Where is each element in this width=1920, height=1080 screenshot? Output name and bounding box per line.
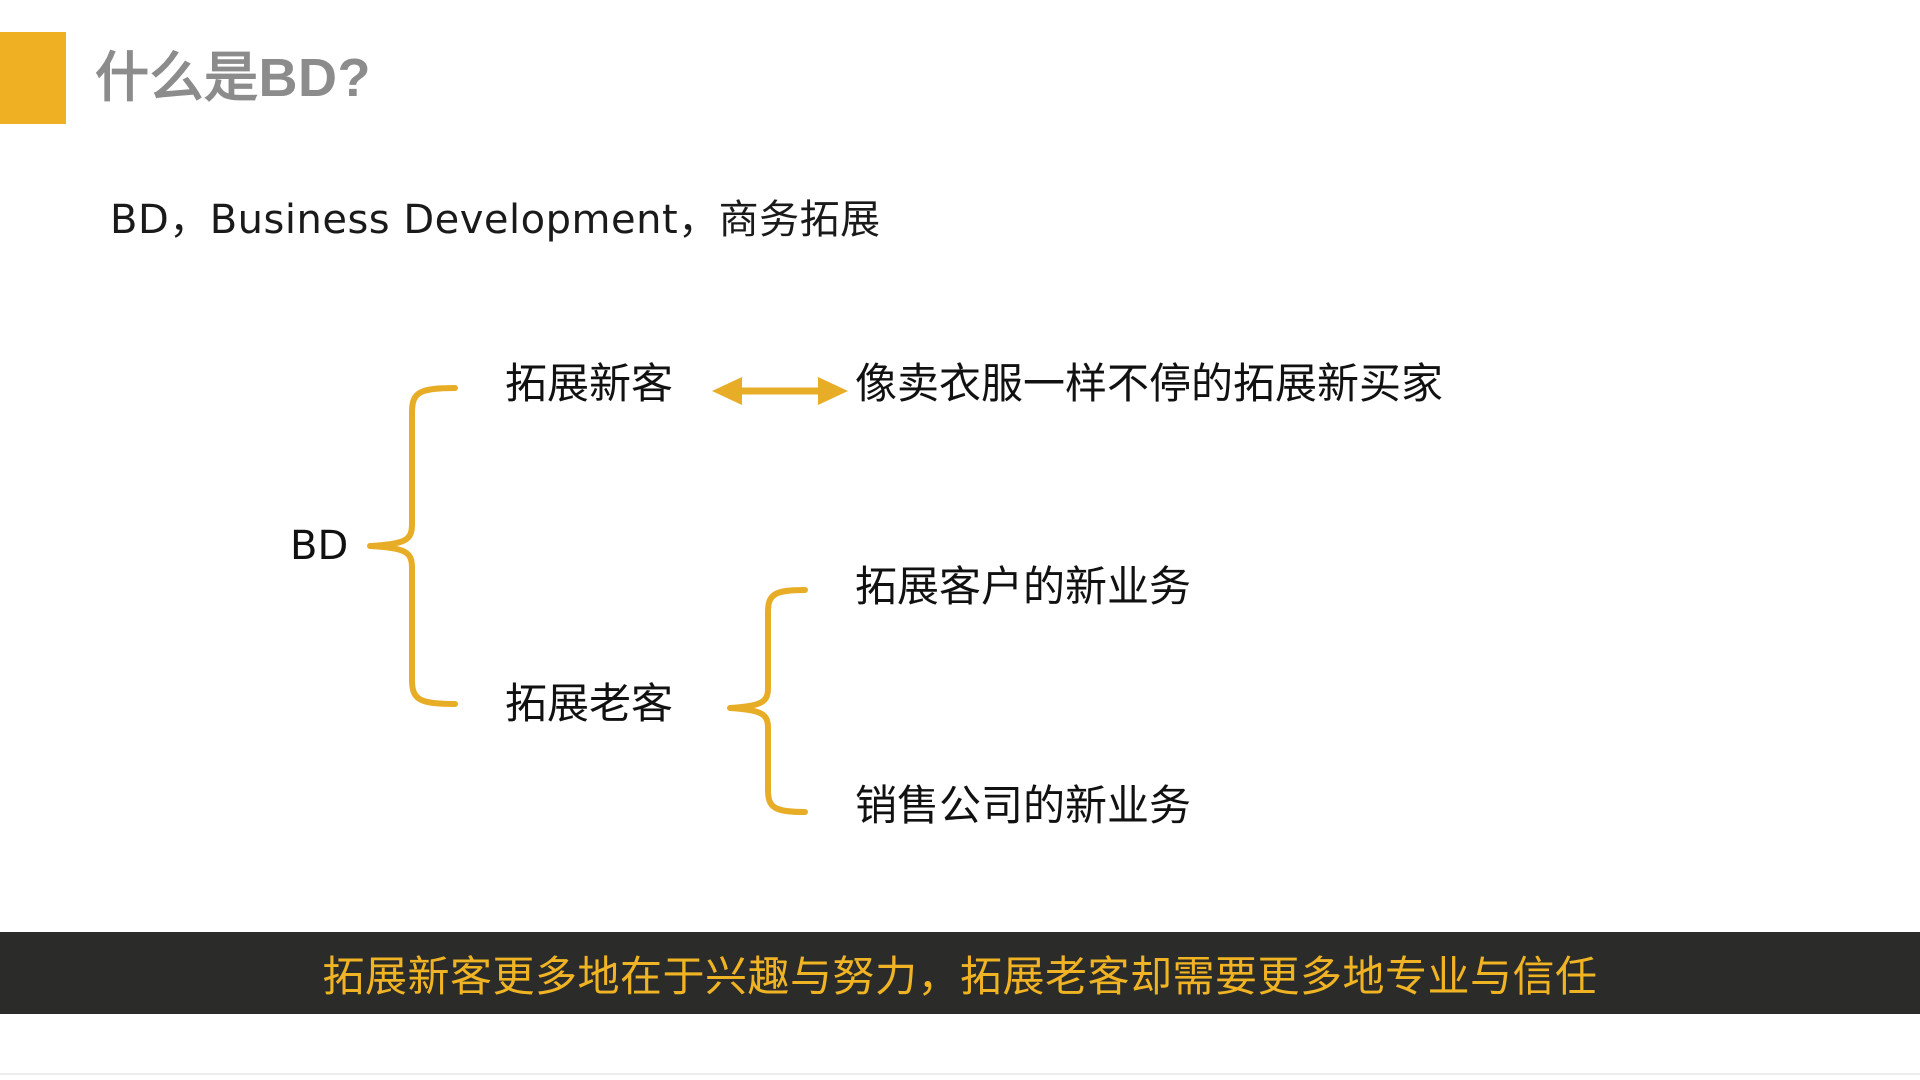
title-accent-block xyxy=(0,32,66,124)
subtitle-text: BD，Business Development，商务拓展 xyxy=(110,187,881,245)
bottom-banner: 拓展新客更多地在于兴趣与努力，拓展老客却需要更多地专业与信任 xyxy=(0,932,1920,1014)
diagram-connectors xyxy=(0,0,1920,1080)
diagram-node-old-client: 拓展老客 xyxy=(505,683,673,725)
diagram-node-old-client-detail-2: 销售公司的新业务 xyxy=(855,785,1191,827)
page-title: 什么是BD? xyxy=(95,51,371,105)
diagram-node-new-client-detail: 像卖衣服一样不停的拓展新买家 xyxy=(855,363,1443,405)
diagram-node-old-client-detail-1: 拓展客户的新业务 xyxy=(855,566,1191,608)
double-arrow-icon xyxy=(712,377,848,405)
slide-canvas: 什么是BD? BD，Business Development，商务拓展 BD 拓… xyxy=(0,0,1920,1080)
slide-title-row: 什么是BD? xyxy=(0,32,371,124)
bottom-divider xyxy=(0,1073,1920,1075)
brace-root xyxy=(370,388,455,704)
bottom-banner-text: 拓展新客更多地在于兴趣与努力，拓展老客却需要更多地专业与信任 xyxy=(322,943,1597,1004)
brace-old-client xyxy=(730,590,805,812)
diagram-node-new-client: 拓展新客 xyxy=(505,363,673,405)
diagram-node-root: BD xyxy=(290,526,348,566)
diagram-container: BD 拓展新客 拓展老客 像卖衣服一样不停的拓展新买家 拓展客户的新业务 销售公… xyxy=(0,0,1920,1080)
